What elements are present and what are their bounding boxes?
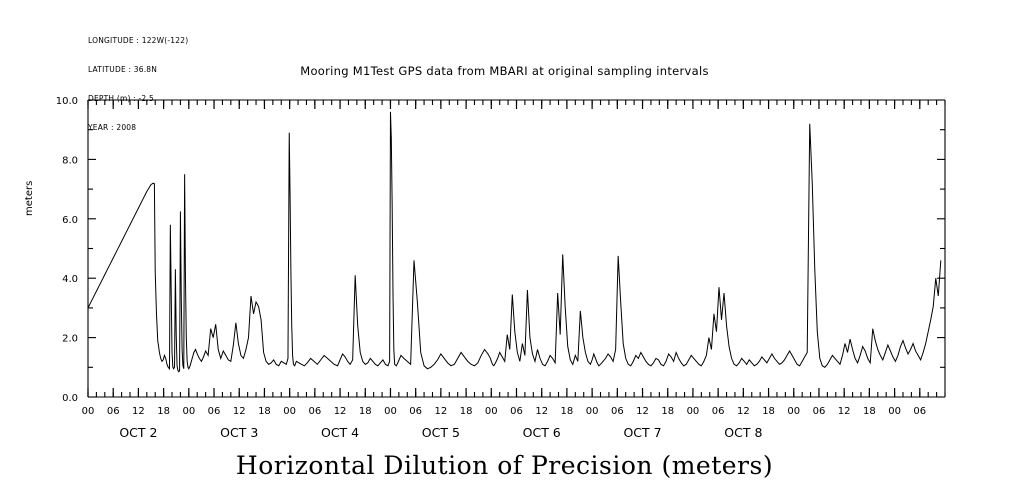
x-hour-label: 12 <box>435 406 448 417</box>
x-hour-label: 06 <box>611 406 624 417</box>
x-hour-label: 12 <box>132 406 145 417</box>
y-tick-label: 2.0 <box>62 334 78 345</box>
x-hour-label: 18 <box>460 406 473 417</box>
x-hour-label: 00 <box>787 406 800 417</box>
x-hour-label: 06 <box>107 406 120 417</box>
x-hour-label: 12 <box>535 406 548 417</box>
y-tick-label: 6.0 <box>62 215 78 226</box>
x-hour-label: 06 <box>813 406 826 417</box>
x-hour-label: 00 <box>384 406 397 417</box>
x-day-label: OCT 5 <box>422 425 460 440</box>
x-day-label: OCT 4 <box>321 425 359 440</box>
x-hour-label: 18 <box>762 406 775 417</box>
x-hour-label: 06 <box>913 406 926 417</box>
x-hour-label: 00 <box>182 406 195 417</box>
x-hour-label: 12 <box>233 406 246 417</box>
x-hour-label: 06 <box>712 406 725 417</box>
x-hour-label: 18 <box>863 406 876 417</box>
x-hour-label: 00 <box>485 406 498 417</box>
x-day-label: OCT 3 <box>220 425 258 440</box>
data-series-hdop <box>88 112 941 372</box>
x-hour-label: 18 <box>561 406 574 417</box>
x-day-label: OCT 6 <box>523 425 561 440</box>
y-tick-label: 4.0 <box>62 274 78 285</box>
x-day-label: OCT 2 <box>119 425 157 440</box>
x-hour-label: 12 <box>838 406 851 417</box>
x-hour-label: 12 <box>334 406 347 417</box>
x-hour-label: 00 <box>82 406 95 417</box>
x-hour-label: 18 <box>157 406 170 417</box>
x-hour-label: 12 <box>737 406 750 417</box>
plot-svg: 0.02.04.06.08.010.0000612180006121800061… <box>0 0 1009 504</box>
y-tick-label: 0.0 <box>62 393 78 404</box>
x-hour-label: 18 <box>359 406 372 417</box>
x-hour-label: 00 <box>586 406 599 417</box>
x-day-label: OCT 7 <box>623 425 661 440</box>
x-hour-label: 06 <box>409 406 422 417</box>
x-axis-title: Horizontal Dilution of Precision (meters… <box>0 451 1009 480</box>
x-hour-label: 00 <box>283 406 296 417</box>
y-tick-label: 10.0 <box>56 96 78 107</box>
y-tick-label: 8.0 <box>62 155 78 166</box>
x-hour-label: 00 <box>687 406 700 417</box>
x-hour-label: 06 <box>208 406 221 417</box>
x-hour-label: 06 <box>510 406 523 417</box>
x-hour-label: 00 <box>888 406 901 417</box>
plot-area: 0.02.04.06.08.010.0000612180006121800061… <box>0 0 1009 504</box>
x-hour-label: 06 <box>308 406 321 417</box>
x-hour-label: 18 <box>258 406 271 417</box>
x-hour-label: 18 <box>661 406 674 417</box>
x-hour-label: 12 <box>636 406 649 417</box>
x-day-label: OCT 8 <box>724 425 762 440</box>
